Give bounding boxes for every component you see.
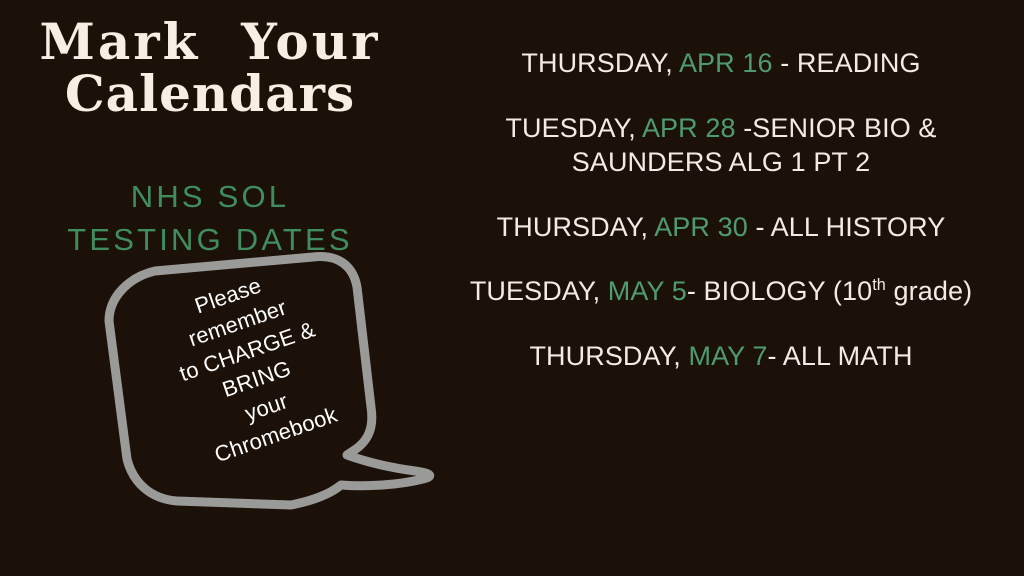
date-entry: TUESDAY, APR 28 -SENIOR BIO & SAUNDERS A… [418,111,1024,180]
ordinal-suffix: th [872,276,886,294]
date-suffix-b: grade) [886,276,972,306]
date-line: TUESDAY, APR 28 -SENIOR BIO & [418,111,1024,146]
date-prefix: TUESDAY, [470,276,608,306]
date-value: MAY 5 [608,276,687,306]
date-prefix: THURSDAY, [497,212,655,242]
date-prefix: THURSDAY, [521,48,679,78]
date-suffix: - ALL MATH [768,341,913,371]
subtitle: NHS SOL TESTING DATES [0,176,420,262]
date-line: THURSDAY, MAY 7- ALL MATH [418,339,1024,374]
date-suffix: - ALL HISTORY [748,212,945,242]
date-line: THURSDAY, APR 30 - ALL HISTORY [418,210,1024,245]
date-value: MAY 7 [688,341,767,371]
speech-bubble: Please remember to CHARGE & BRING your C… [85,255,445,515]
testing-dates-list: THURSDAY, APR 16 - READING TUESDAY, APR … [418,46,1024,373]
date-entry: THURSDAY, MAY 7- ALL MATH [418,339,1024,374]
date-suffix: - READING [773,48,921,78]
left-column: Mark Your Calendars NHS SOL TESTING DATE… [0,0,420,576]
date-line: TUESDAY, MAY 5- BIOLOGY (10th grade) [418,274,1024,309]
date-prefix: THURSDAY, [529,341,688,371]
date-value: APR 16 [679,48,773,78]
date-entry: THURSDAY, APR 16 - READING [418,46,1024,81]
page-title: Mark Your Calendars [0,16,420,119]
date-value: APR 28 [642,113,736,143]
date-prefix: TUESDAY, [505,113,641,143]
page-title-line-1: Mark Your [0,16,420,68]
subtitle-line-1: NHS SOL [0,176,420,219]
slide-canvas: Mark Your Calendars NHS SOL TESTING DATE… [0,0,1024,576]
date-line-continued: SAUNDERS ALG 1 PT 2 [418,145,1024,180]
date-suffix-a: - BIOLOGY (10 [687,276,872,306]
date-value: APR 30 [654,212,748,242]
date-line: THURSDAY, APR 16 - READING [418,46,1024,81]
page-title-line-2: Calendars [0,68,420,120]
date-suffix: -SENIOR BIO & [736,113,937,143]
date-entry: TUESDAY, MAY 5- BIOLOGY (10th grade) [418,274,1024,309]
date-entry: THURSDAY, APR 30 - ALL HISTORY [418,210,1024,245]
